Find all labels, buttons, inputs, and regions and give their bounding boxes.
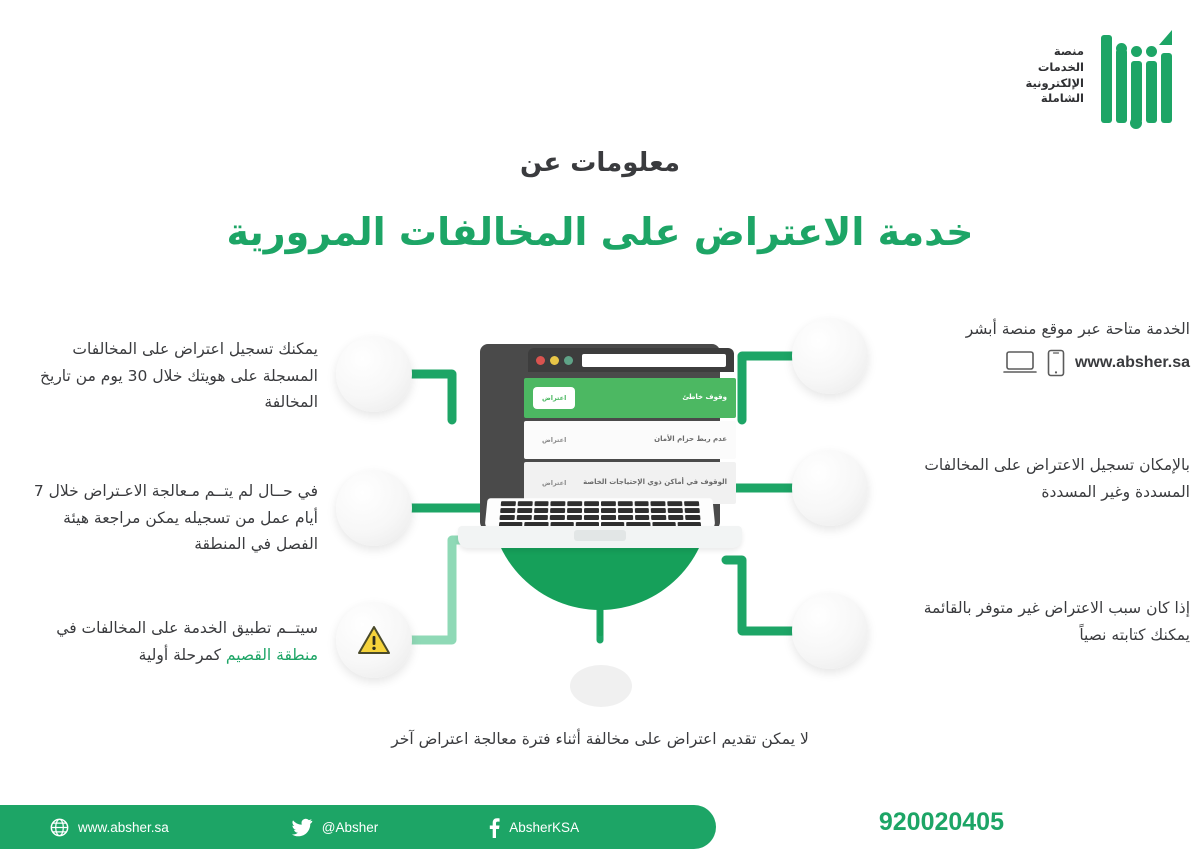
logo-line-3: الإلكترونية — [1026, 76, 1085, 92]
left-item-2-text: في حــال لم يتــم مـعالجة الاعـتراض خلال… — [18, 478, 318, 558]
keyboard-row — [501, 501, 700, 506]
left-item-1-text: يمكنك تسجيل اعتراض على المخالفات المسجلة… — [18, 336, 318, 416]
laptop-icon — [1003, 350, 1037, 375]
infographic-canvas: منصة الخدمات الإلكترونية الشاملة معلومات… — [0, 0, 1200, 855]
logo-bar-5 — [1101, 35, 1112, 123]
node-right-2[interactable] — [792, 450, 868, 526]
laptop-illustration: وقوف خاطئ اعتراض عدم ربط حزام الأمان اعت… — [450, 330, 750, 610]
node-right-1[interactable] — [792, 318, 868, 394]
right-item-3-text: إذا كان سبب الاعتراض غير متوفر بالقائمة … — [890, 595, 1190, 648]
left-item-3-after: كمرحلة أولية — [139, 646, 226, 664]
logo-line-2: الخدمات — [1026, 60, 1085, 76]
logo-dot-bottom — [1130, 117, 1142, 129]
absher-logo: منصة الخدمات الإلكترونية الشاملة — [1026, 28, 1173, 123]
violation-name: عدم ربط حزام الأمان — [654, 435, 727, 444]
footer-website[interactable]: www.absher.sa — [50, 818, 169, 837]
laptop-touchpad — [574, 530, 626, 541]
hotline-number: 920020405 — [879, 808, 1004, 837]
node-left-2[interactable] — [336, 470, 412, 546]
keyboard-row — [499, 515, 700, 520]
page-title: خدمة الاعتراض على المخالفات المرورية — [0, 210, 1200, 254]
violations-table: وقوف خاطئ اعتراض عدم ربط حزام الأمان اعت… — [524, 378, 736, 508]
object-button[interactable]: اعتراض — [533, 472, 575, 494]
table-row[interactable]: عدم ربط حزام الأمان اعتراض — [524, 421, 736, 459]
bottom-note-text: لا يمكن تقديم اعتراض على مخالفة أثناء فت… — [0, 726, 1200, 753]
logo-dot-2 — [1131, 46, 1142, 57]
facebook-icon — [488, 816, 500, 838]
violation-name: الوقوف في أماكن ذوي الإحتياجات الخاصة — [583, 478, 727, 487]
violation-name: وقوف خاطئ — [682, 393, 727, 402]
browser-title-bar — [528, 348, 734, 372]
absher-url-text[interactable]: www.absher.sa — [1075, 349, 1190, 377]
right-item-2-text: بالإمكان تسجيل الاعتراض على المخالفات ال… — [890, 452, 1190, 505]
absher-url-line: www.absher.sa — [890, 349, 1190, 377]
browser-minimize-dot-icon[interactable] — [550, 356, 559, 365]
page-subtitle: معلومات عن — [0, 148, 1200, 178]
footer-facebook[interactable]: AbsherKSA — [488, 816, 579, 838]
footer-twitter[interactable]: @Absher — [291, 818, 378, 837]
logo-hamza-icon — [1159, 30, 1172, 45]
globe-icon — [50, 818, 69, 837]
node-left-3[interactable] — [336, 602, 412, 678]
browser-address-bar[interactable] — [582, 354, 726, 367]
object-button[interactable]: اعتراض — [533, 429, 575, 451]
browser-maximize-dot-icon[interactable] — [564, 356, 573, 365]
logo-bar-4 — [1116, 49, 1127, 123]
twitter-icon — [291, 818, 313, 837]
logo-bar-3 — [1131, 61, 1142, 123]
left-item-3-before: سيتــم تطبيق الخدمة على المخالفات في — [56, 619, 318, 637]
logo-line-1: منصة — [1026, 44, 1085, 60]
logo-dot-3 — [1116, 43, 1127, 54]
table-row[interactable]: وقوف خاطئ اعتراض — [524, 378, 736, 418]
object-button[interactable]: اعتراض — [533, 387, 575, 409]
footer-facebook-label: AbsherKSA — [509, 820, 579, 835]
footer-website-label: www.absher.sa — [78, 820, 169, 835]
right-item-1: الخدمة متاحة عبر موقع منصة أبشر www.absh… — [890, 316, 1190, 377]
node-left-1[interactable] — [336, 336, 412, 412]
logo-tagline: منصة الخدمات الإلكترونية الشاملة — [1026, 44, 1085, 107]
logo-bar-2 — [1146, 61, 1157, 123]
left-item-3-highlight: منطقة القصيم — [226, 646, 318, 664]
keyboard-row — [500, 508, 700, 513]
logo-line-4: الشاملة — [1026, 91, 1085, 107]
absher-logo-mark-icon — [1094, 28, 1172, 123]
node-right-3[interactable] — [792, 593, 868, 669]
footer-bar: www.absher.sa @Absher AbsherKSA — [0, 805, 716, 849]
right-item-1-text: الخدمة متاحة عبر موقع منصة أبشر — [890, 316, 1190, 343]
bottom-shadow — [570, 665, 632, 707]
logo-bar-1 — [1161, 53, 1172, 123]
warning-triangle-icon — [357, 625, 391, 656]
connector-stem — [598, 606, 603, 636]
footer-twitter-label: @Absher — [322, 820, 378, 835]
browser-close-dot-icon[interactable] — [536, 356, 545, 365]
left-item-3-text: سيتــم تطبيق الخدمة على المخالفات في منط… — [18, 615, 318, 668]
logo-dot-1 — [1146, 46, 1157, 57]
phone-icon — [1047, 349, 1065, 377]
